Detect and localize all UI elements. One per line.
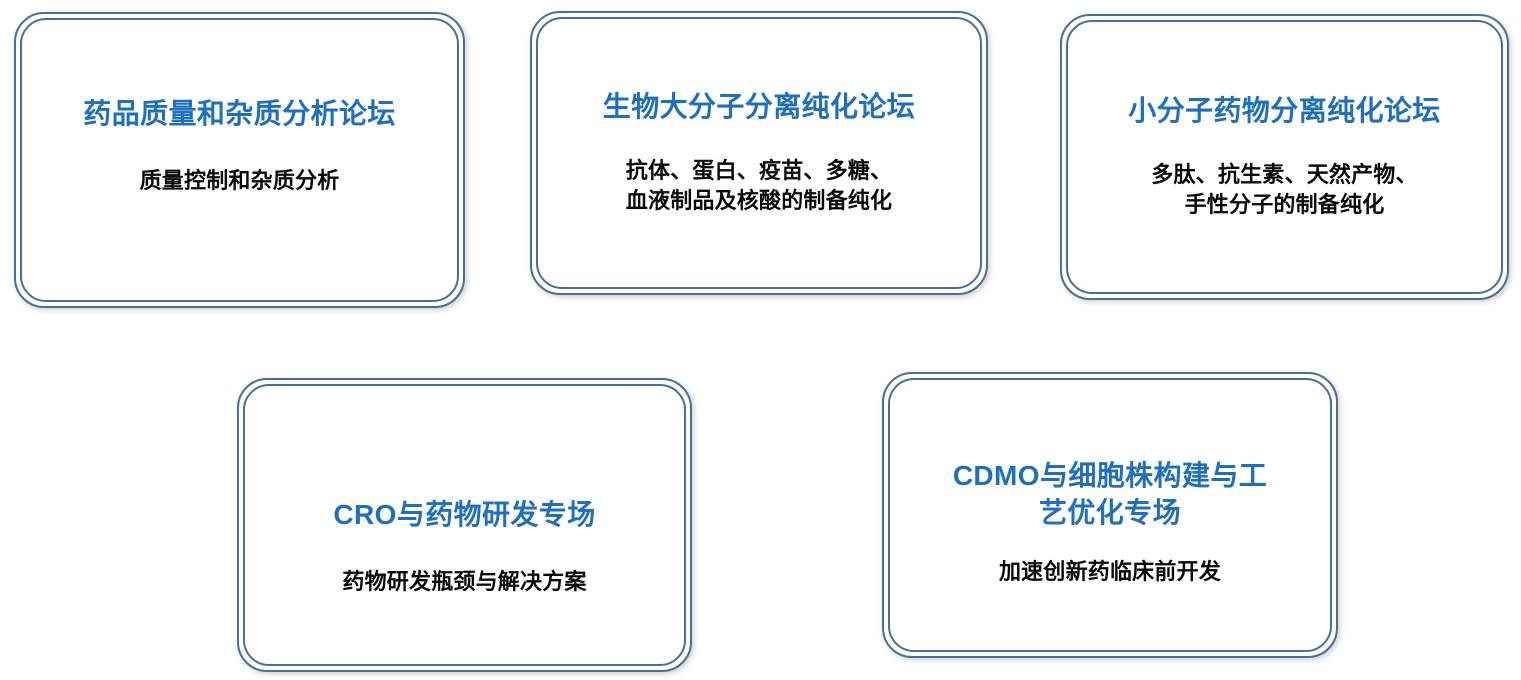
card-title: CRO与药物研发专场 (261, 497, 668, 533)
card-inner-frame: CRO与药物研发专场 药物研发瓶颈与解决方案 (243, 384, 686, 666)
forum-card-small-molecule-drug-separation-purification[interactable]: 小分子药物分离纯化论坛 多肽、抗生素、天然产物、 手性分子的制备纯化 (1060, 14, 1509, 300)
card-content: 药品质量和杂质分析论坛 质量控制和杂质分析 (22, 96, 457, 197)
title-subtitle-spacer (38, 132, 441, 166)
card-content: CDMO与细胞株构建与工 艺优化专场 加速创新药临床前开发 (890, 458, 1330, 587)
forum-card-cro-drug-rd[interactable]: CRO与药物研发专场 药物研发瓶颈与解决方案 (237, 378, 692, 672)
card-subtitle: 质量控制和杂质分析 (38, 166, 441, 196)
card-inner-frame: CDMO与细胞株构建与工 艺优化专场 加速创新药临床前开发 (888, 378, 1332, 652)
card-content: CRO与药物研发专场 药物研发瓶颈与解决方案 (245, 497, 684, 598)
card-subtitle: 加速创新药临床前开发 (906, 557, 1314, 587)
card-title: 药品质量和杂质分析论坛 (38, 96, 441, 132)
card-content: 生物大分子分离纯化论坛 抗体、蛋白、疫苗、多糖、 血液制品及核酸的制备纯化 (538, 89, 980, 216)
card-subtitle: 药物研发瓶颈与解决方案 (261, 567, 668, 597)
forum-card-drug-quality-impurity-analysis[interactable]: 药品质量和杂质分析论坛 质量控制和杂质分析 (14, 12, 465, 308)
card-content: 小分子药物分离纯化论坛 多肽、抗生素、天然产物、 手性分子的制备纯化 (1068, 93, 1501, 220)
card-inner-frame: 生物大分子分离纯化论坛 抗体、蛋白、疫苗、多糖、 血液制品及核酸的制备纯化 (536, 17, 982, 289)
card-title: 小分子药物分离纯化论坛 (1084, 93, 1485, 129)
card-subtitle: 多肽、抗生素、天然产物、 手性分子的制备纯化 (1084, 160, 1485, 221)
forum-session-card-board: 药品质量和杂质分析论坛 质量控制和杂质分析 生物大分子分离纯化论坛 抗体、蛋白、… (0, 0, 1521, 680)
title-subtitle-spacer (906, 531, 1314, 557)
title-subtitle-spacer (1084, 130, 1485, 160)
forum-card-cdmo-cell-line-process-optimization[interactable]: CDMO与细胞株构建与工 艺优化专场 加速创新药临床前开发 (882, 372, 1338, 658)
title-subtitle-spacer (261, 533, 668, 567)
card-inner-frame: 小分子药物分离纯化论坛 多肽、抗生素、天然产物、 手性分子的制备纯化 (1066, 20, 1503, 294)
title-subtitle-spacer (554, 126, 964, 156)
forum-card-biomacromolecule-separation-purification[interactable]: 生物大分子分离纯化论坛 抗体、蛋白、疫苗、多糖、 血液制品及核酸的制备纯化 (530, 11, 988, 295)
card-title: 生物大分子分离纯化论坛 (554, 89, 964, 125)
card-inner-frame: 药品质量和杂质分析论坛 质量控制和杂质分析 (20, 18, 459, 302)
card-title: CDMO与细胞株构建与工 艺优化专场 (906, 458, 1314, 531)
card-subtitle: 抗体、蛋白、疫苗、多糖、 血液制品及核酸的制备纯化 (554, 156, 964, 217)
